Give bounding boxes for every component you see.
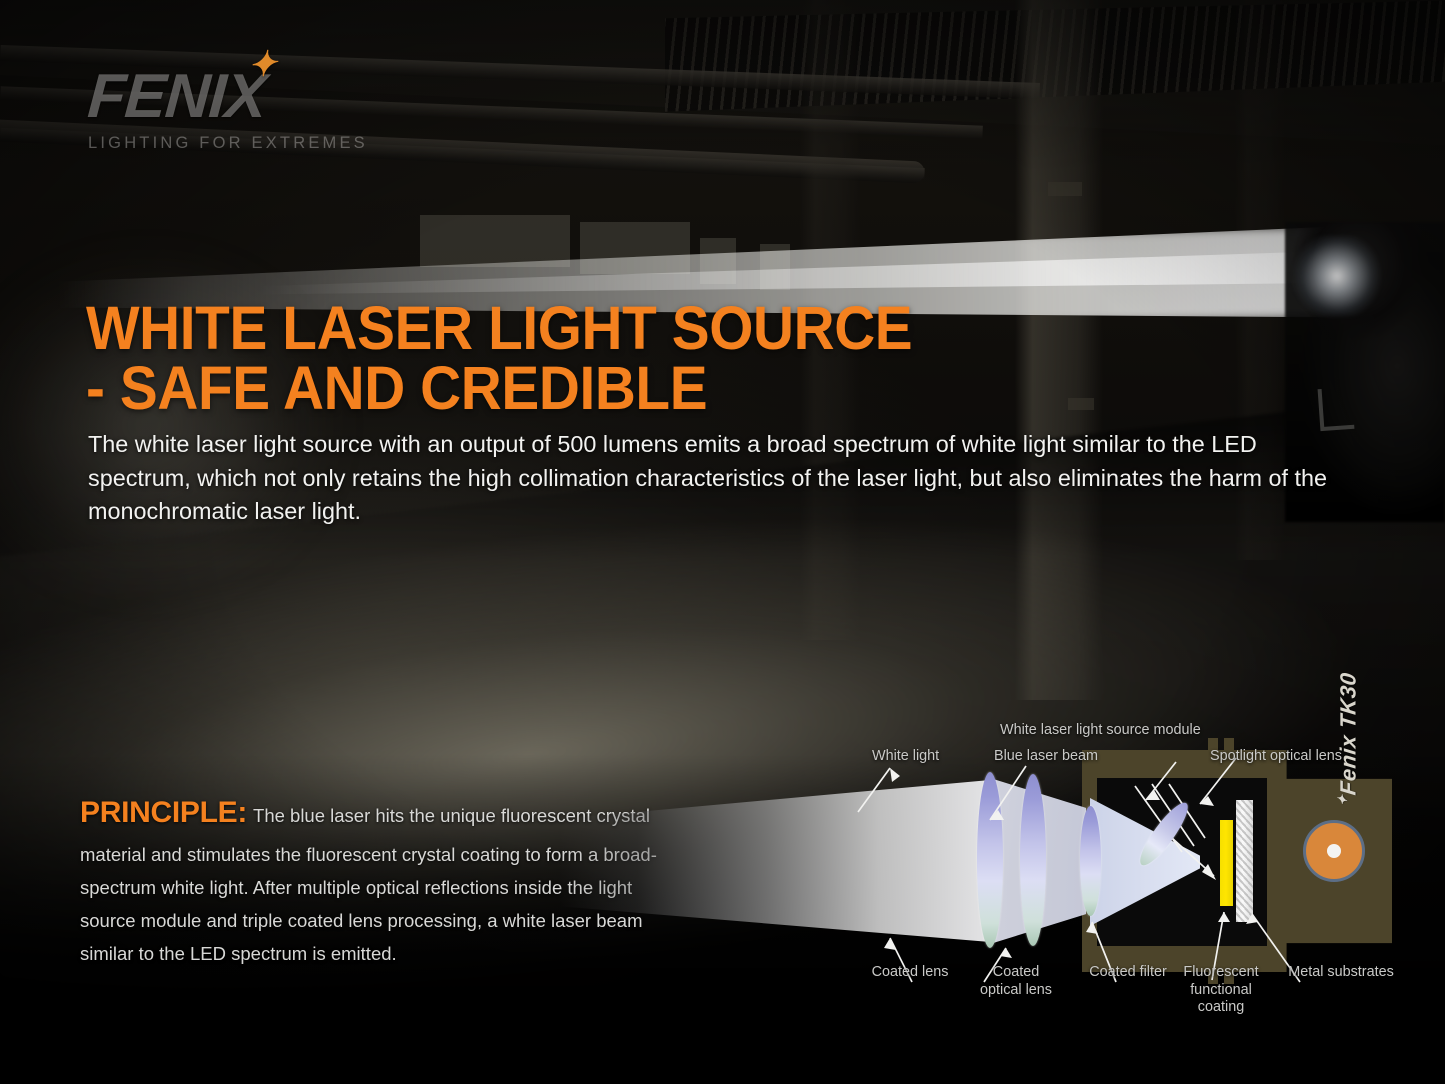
outlet-plate bbox=[1068, 398, 1094, 410]
vent-plate bbox=[1048, 182, 1082, 196]
principle-keyword: PRINCIPLE: bbox=[80, 796, 247, 829]
label-coated-lens: Coated lens bbox=[862, 964, 958, 982]
label-white-light: White light bbox=[872, 748, 939, 766]
label-fluorescent-functional-coating: Fluorescent functional coating bbox=[1174, 964, 1268, 1017]
star-icon: ✦ bbox=[247, 46, 277, 83]
label-coated-filter: Coated filter bbox=[1076, 964, 1180, 982]
label-coated-optical-lens: Coated optical lens bbox=[964, 964, 1068, 999]
promo-slide: FENIX ✦ LIGHTING FOR EXTREMES WHITE LASE… bbox=[0, 0, 1445, 1084]
operator-patch bbox=[1318, 387, 1355, 431]
page-title: WHITE LASER LIGHT SOURCE - SAFE AND CRED… bbox=[86, 298, 1016, 419]
optical-principle-diagram: ✦Fenix TK30 bbox=[560, 700, 1440, 1040]
logo-tagline: LIGHTING FOR EXTREMES bbox=[88, 134, 418, 153]
intro-paragraph: The white laser light source with an out… bbox=[88, 428, 1360, 529]
page-title-line2: - SAFE AND CREDIBLE bbox=[86, 358, 1016, 418]
label-spotlight-optical-lens: Spotlight optical lens bbox=[1210, 748, 1342, 766]
label-blue-laser-beam: Blue laser beam bbox=[994, 748, 1098, 766]
logo-wordmark: FENIX ✦ bbox=[86, 66, 420, 128]
flashlight-flare bbox=[1292, 236, 1382, 316]
label-metal-substrates: Metal substrates bbox=[1276, 964, 1406, 982]
fenix-logo[interactable]: FENIX ✦ LIGHTING FOR EXTREMES bbox=[88, 66, 418, 153]
page-title-line1: WHITE LASER LIGHT SOURCE bbox=[86, 294, 912, 362]
logo-wordmark-text: FENIX bbox=[86, 62, 268, 131]
label-white-laser-light-source-module: White laser light source module bbox=[1000, 722, 1201, 740]
